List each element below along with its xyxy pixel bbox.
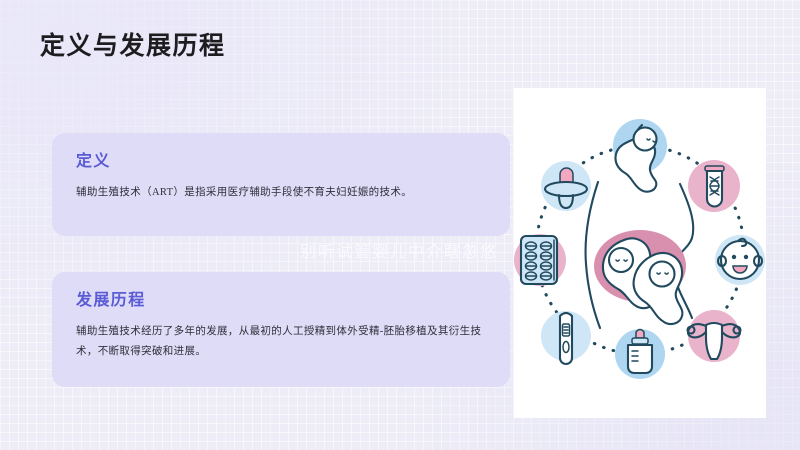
fetus-icon	[613, 119, 667, 192]
watermark-text: 别听试管婴儿中介瞎忽悠	[300, 238, 498, 262]
slide-canvas: 定义与发展历程 定义 辅助生殖技术（ART）是指采用医疗辅助手段使不育夫妇妊娠的…	[0, 0, 800, 450]
card-definition-heading: 定义	[76, 152, 486, 172]
card-definition-body: 辅助生殖技术（ART）是指采用医疗辅助手段使不育夫妇妊娠的技术。	[76, 183, 486, 203]
page-title: 定义与发展历程	[40, 31, 226, 63]
baby-bottle-icon	[615, 329, 665, 379]
illustration-panel: .ol { fill:none; stroke:#214a5e; stroke-…	[514, 88, 766, 418]
uterus-icon	[688, 310, 741, 362]
card-history-body: 辅助生殖技术经历了多年的发展，从最初的人工授精到体外受精-胚胎移植及其衍生技术，…	[76, 322, 486, 362]
pill-blister-icon	[514, 234, 566, 286]
card-history-heading: 发展历程	[76, 291, 486, 311]
pacifier-icon	[541, 161, 591, 211]
card-history: 发展历程 辅助生殖技术经历了多年的发展，从最初的人工授精到体外受精-胚胎移植及其…	[52, 272, 510, 387]
art-cycle-illustration: .ol { fill:none; stroke:#214a5e; stroke-…	[514, 88, 766, 418]
baby-face-icon	[715, 235, 765, 285]
pregnancy-test-icon	[541, 311, 591, 364]
card-definition: 定义 辅助生殖技术（ART）是指采用医疗辅助手段使不育夫妇妊娠的技术。	[52, 133, 510, 236]
dna-test-tube-icon	[688, 160, 740, 212]
